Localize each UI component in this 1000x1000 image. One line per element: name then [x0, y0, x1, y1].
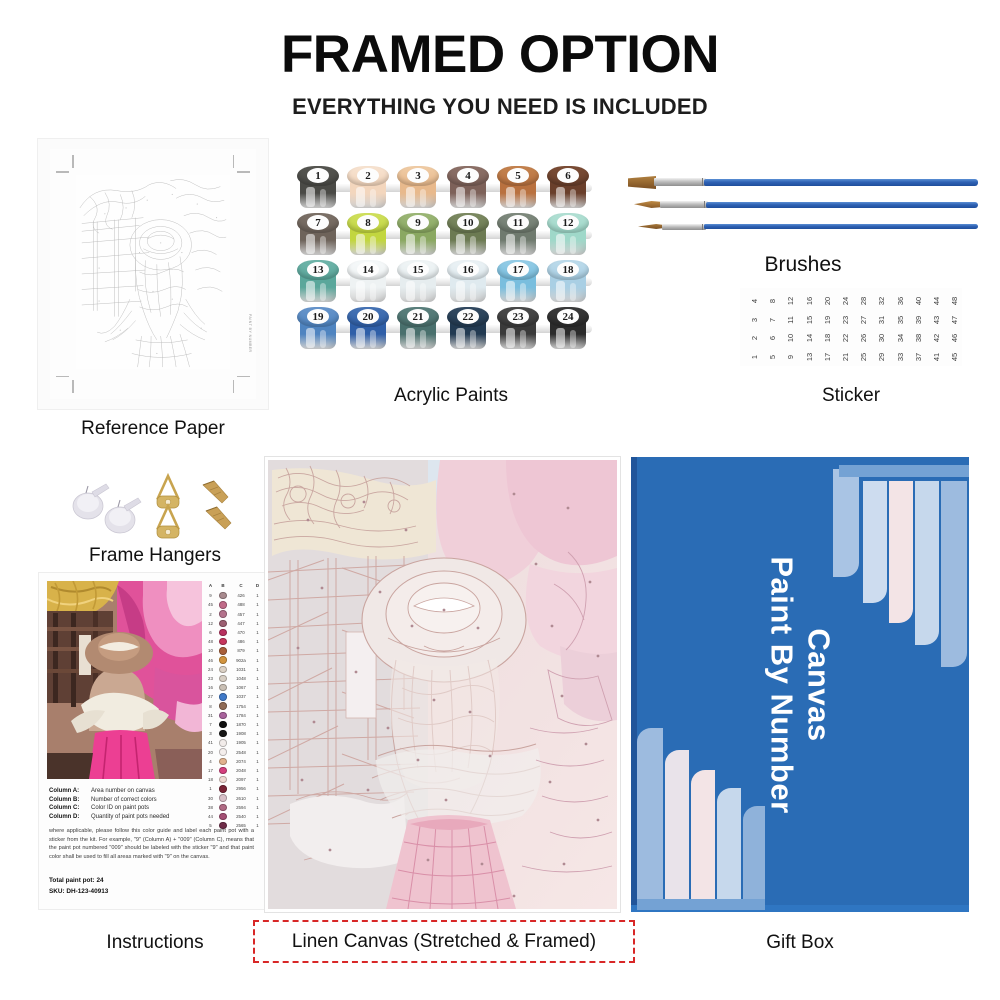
sticker-number-34[interactable]: 34: [891, 330, 909, 346]
gift-box-stripe: [941, 481, 967, 667]
color-row-id: 1908: [230, 731, 252, 736]
paint-pot-highlight: [306, 234, 315, 254]
color-row-id: 2540: [230, 814, 252, 819]
color-row-id: 457: [230, 612, 252, 617]
paint-pot-number: 6: [547, 167, 589, 184]
flat-brush-handle: [704, 179, 978, 186]
color-swatch: [219, 675, 227, 683]
color-row-qty: 1: [252, 602, 263, 607]
gift-box-stripe: [833, 469, 859, 577]
sticker-number-17[interactable]: 17: [818, 349, 836, 365]
flat-brush: [628, 176, 978, 188]
color-row-swatch-cell: [216, 767, 230, 775]
sticker-number-6[interactable]: 6: [763, 330, 781, 346]
sticker-number-41[interactable]: 41: [927, 349, 945, 365]
color-row-swatch-cell: [216, 629, 230, 637]
paint-pot-20[interactable]: 20: [346, 307, 390, 351]
paint-pot-number: 7: [297, 214, 339, 231]
paint-pot-highlight: [306, 328, 315, 348]
paint-pot-row: 789101112: [296, 213, 606, 257]
paint-pot-number: 15: [397, 261, 439, 278]
paint-pot-number: 16: [447, 261, 489, 278]
paint-pot-number: 9: [397, 214, 439, 231]
color-row-swatch-cell: [216, 794, 230, 802]
paint-pot-highlight: [470, 283, 476, 301]
registration-mark: [237, 171, 250, 173]
registration-mark: [237, 376, 250, 378]
sticker-number-2[interactable]: 2: [745, 330, 763, 346]
sticker-number-28[interactable]: 28: [854, 293, 872, 309]
instructions-legend-line: Column C:Color ID on paint pots: [49, 805, 209, 811]
paint-pot-highlight: [470, 236, 476, 254]
color-row-id: 470: [230, 630, 252, 635]
caption-frame-hangers: Frame Hangers: [20, 545, 290, 568]
color-swatch: [219, 702, 227, 710]
color-row-area: 8: [205, 704, 216, 709]
sticker-number-24[interactable]: 24: [836, 293, 854, 309]
sticker-number-22[interactable]: 22: [836, 330, 854, 346]
color-row-swatch-cell: [216, 712, 230, 720]
instructions-sku: SKU: DH-123-40913: [49, 888, 108, 895]
paint-pot-highlight: [420, 236, 426, 254]
paint-pot-highlight: [370, 189, 376, 207]
color-row-swatch-cell: [216, 592, 230, 600]
paint-pot-highlight: [356, 328, 365, 348]
color-swatch: [219, 638, 227, 646]
sticker-number-25[interactable]: 25: [854, 349, 872, 365]
gift-box: Canvas Paint By Number: [631, 457, 969, 912]
color-row-id: 1784: [230, 713, 252, 718]
paint-pot-5[interactable]: 5: [496, 166, 540, 210]
color-row-area: 7: [205, 722, 216, 727]
paint-pot-16[interactable]: 16: [446, 260, 490, 304]
color-row-area: 31: [205, 713, 216, 718]
sticker-number-48[interactable]: 48: [945, 293, 963, 309]
sticker-number-39[interactable]: 39: [909, 312, 927, 328]
instructions-color-row: 46902a1: [205, 655, 263, 664]
instructions-color-row: 718701: [205, 720, 263, 729]
sticker-number-27[interactable]: 27: [854, 312, 872, 328]
color-row-id: 447: [230, 621, 252, 626]
paint-pot-highlight: [470, 189, 476, 207]
color-row-swatch-cell: [216, 675, 230, 683]
page-title: FRAMED OPTION: [0, 28, 1000, 81]
color-row-id: 1031: [230, 667, 252, 672]
paint-pot-highlight: [520, 330, 526, 348]
paint-pot-highlight: [406, 281, 415, 301]
paint-pot-number: 23: [497, 308, 539, 325]
paint-pot-6[interactable]: 6: [546, 166, 590, 210]
color-row-qty: 1: [252, 630, 263, 635]
sticker-number-38[interactable]: 38: [909, 330, 927, 346]
sticker-number-12[interactable]: 12: [781, 293, 799, 309]
color-swatch: [219, 739, 227, 747]
sticker-number-18[interactable]: 18: [818, 330, 836, 346]
color-row-id: 1905: [230, 740, 252, 745]
color-swatch: [219, 776, 227, 784]
sticker-number-13[interactable]: 13: [800, 349, 818, 365]
color-swatch: [219, 804, 227, 812]
round-brush-ferrule: [660, 201, 708, 208]
color-row-id: 902a: [230, 658, 252, 663]
instructions-color-row: 3026101: [205, 793, 263, 802]
paint-pot-highlight: [456, 234, 465, 254]
sticker-number-45[interactable]: 45: [945, 349, 963, 365]
paint-pot-number: 10: [447, 214, 489, 231]
paint-pot-7[interactable]: 7: [296, 213, 340, 257]
instructions-color-row: 319081: [205, 729, 263, 738]
paint-pot-number: 11: [497, 214, 539, 231]
instructions-color-row: 108791: [205, 646, 263, 655]
sticker-number-20[interactable]: 20: [818, 293, 836, 309]
color-swatch: [219, 794, 227, 802]
paint-pot-15[interactable]: 15: [396, 260, 440, 304]
paint-pot-highlight: [570, 330, 576, 348]
color-row-qty: 1: [252, 713, 263, 718]
color-swatch: [219, 813, 227, 821]
paint-pot-number: 2: [347, 167, 389, 184]
paint-pot-highlight: [420, 283, 426, 301]
gift-box-label-line2: Paint By Number: [763, 556, 800, 813]
color-swatch: [219, 748, 227, 756]
flat-brush-ferrule: [654, 178, 706, 186]
paint-pot-3[interactable]: 3: [396, 166, 440, 210]
paint-pot-21[interactable]: 21: [396, 307, 440, 351]
paint-pot-22[interactable]: 22: [446, 307, 490, 351]
color-row-id: 488: [230, 602, 252, 607]
color-row-qty: 1: [252, 786, 263, 791]
color-row-area: 27: [205, 694, 216, 699]
gift-box-stripe-cap: [637, 899, 765, 910]
color-swatch: [219, 629, 227, 637]
sticker-column: 1211109: [782, 288, 798, 366]
page-subtitle: EVERYTHING YOU NEED IS INCLUDED: [0, 96, 1000, 118]
sticker-number-29[interactable]: 29: [872, 349, 890, 365]
legend-value: Quantity of paint pots needed: [91, 814, 169, 820]
color-swatch: [219, 647, 227, 655]
paint-pot-highlight: [556, 281, 565, 301]
color-swatch: [219, 785, 227, 793]
paint-pot-24[interactable]: 24: [546, 307, 590, 351]
sticker-number-10[interactable]: 10: [781, 330, 799, 346]
sticker-number-3[interactable]: 3: [745, 312, 763, 328]
legend-value: Area number on canvas: [91, 788, 155, 794]
instructions-legend-line: Column A:Area number on canvas: [49, 788, 209, 794]
caption-linen-canvas: Linen Canvas (Stretched & Framed): [292, 931, 596, 953]
sticker-number-9[interactable]: 9: [781, 349, 799, 365]
sticker-number-5[interactable]: 5: [763, 349, 781, 365]
paint-pot-highlight: [306, 281, 315, 301]
sticker-number-44[interactable]: 44: [927, 293, 945, 309]
reference-paper: PAINT BY NUMBER: [37, 138, 269, 410]
color-row-area: 17: [205, 768, 216, 773]
color-swatch: [219, 592, 227, 600]
paint-pot-number: 5: [497, 167, 539, 184]
color-row-qty: 1: [252, 796, 263, 801]
gift-box-stripe: [717, 788, 741, 900]
paint-pot-highlight: [370, 330, 376, 348]
paint-pot-14[interactable]: 14: [346, 260, 390, 304]
color-swatch: [219, 730, 227, 738]
instructions-color-row: 3825941: [205, 803, 263, 812]
sticker-column: 44434241: [928, 288, 944, 366]
instructions-color-row: 420741: [205, 757, 263, 766]
sticker-column: 32313029: [873, 288, 889, 366]
sticker-number-43[interactable]: 43: [927, 312, 945, 328]
caption-sticker: Sticker: [740, 385, 962, 408]
paint-pot-2[interactable]: 2: [346, 166, 390, 210]
color-row-swatch-cell: [216, 656, 230, 664]
instructions-color-row: 2710371: [205, 692, 263, 701]
instructions-legend-line: Column D:Quantity of paint pots needed: [49, 814, 209, 820]
sticker-number-32[interactable]: 32: [872, 293, 890, 309]
color-swatch: [219, 693, 227, 701]
paint-pot-13[interactable]: 13: [296, 260, 340, 304]
sticker-number-37[interactable]: 37: [909, 349, 927, 365]
th-b: B: [216, 583, 230, 588]
color-row-area: 18: [205, 777, 216, 782]
color-row-swatch-cell: [216, 620, 230, 628]
registration-mark: [72, 380, 74, 393]
paint-pot-number: 13: [297, 261, 339, 278]
paint-pot-highlight: [370, 283, 376, 301]
paint-pot-4[interactable]: 4: [446, 166, 490, 210]
paint-pot-highlight: [470, 330, 476, 348]
paint-pot-number: 18: [547, 261, 589, 278]
paint-pot-10[interactable]: 10: [446, 213, 490, 257]
sticker-number-11[interactable]: 11: [781, 312, 799, 328]
color-swatch: [219, 610, 227, 618]
paint-pot-highlight: [456, 187, 465, 207]
color-row-id: 2594: [230, 805, 252, 810]
color-row-swatch-cell: [216, 702, 230, 710]
legend-value: Color ID on paint pots: [91, 805, 149, 811]
sticker-column: 28272625: [855, 288, 871, 366]
round-brush-handle: [706, 202, 978, 208]
sticker-column: 4321: [746, 288, 762, 366]
color-swatch: [219, 620, 227, 628]
paint-pot-number: 12: [547, 214, 589, 231]
sticker-number-40[interactable]: 40: [909, 293, 927, 309]
sticker-number-46[interactable]: 46: [945, 330, 963, 346]
color-row-swatch-cell: [216, 785, 230, 793]
paint-pot-19[interactable]: 19: [296, 307, 340, 351]
paint-pot-highlight: [356, 187, 365, 207]
paint-pot-17[interactable]: 17: [496, 260, 540, 304]
instructions-color-row: 129561: [205, 784, 263, 793]
color-row-swatch-cell: [216, 693, 230, 701]
instructions-color-row: 2025481: [205, 747, 263, 756]
paint-pot-highlight: [406, 187, 415, 207]
color-row-id: 2097: [230, 777, 252, 782]
instructions-artwork-preview: [47, 581, 202, 779]
paint-pot-highlight: [320, 236, 326, 254]
color-row-area: 12: [205, 621, 216, 626]
color-row-swatch-cell: [216, 647, 230, 655]
paint-pot-highlight: [506, 234, 515, 254]
instructions-table-header: A B C D: [205, 581, 263, 590]
sticker-number-36[interactable]: 36: [891, 293, 909, 309]
color-row-id: 1048: [230, 676, 252, 681]
instructions-color-row: 2310481: [205, 674, 263, 683]
sticker-number-42[interactable]: 42: [927, 330, 945, 346]
sticker-number-47[interactable]: 47: [945, 312, 963, 328]
instructions-total-paint-pots: Total paint pot: 24: [49, 877, 104, 884]
paint-pot-8[interactable]: 8: [346, 213, 390, 257]
sticker-column: 20191817: [819, 288, 835, 366]
color-row-qty: 1: [252, 740, 263, 745]
instructions-color-table: A B C D 94261454881245711244716470148486…: [205, 581, 263, 826]
sticker-number-1[interactable]: 1: [745, 349, 763, 365]
color-row-id: 2048: [230, 768, 252, 773]
color-row-qty: 1: [252, 768, 263, 773]
flat-brush-tip: [628, 176, 656, 189]
detail-brush-handle: [704, 224, 978, 229]
sticker-sheet: 4321876512111091615141320191817242322212…: [740, 288, 962, 366]
instructions-color-row: 64701: [205, 628, 263, 637]
sticker-number-7[interactable]: 7: [763, 312, 781, 328]
gift-box-label-line1: Canvas: [800, 556, 837, 813]
color-row-area: 41: [205, 740, 216, 745]
caption-reference-paper: Reference Paper: [0, 418, 306, 441]
color-row-swatch-cell: [216, 748, 230, 756]
paint-pot-highlight: [356, 281, 365, 301]
sticker-number-8[interactable]: 8: [763, 293, 781, 309]
color-row-qty: 1: [252, 648, 263, 653]
color-row-id: 426: [230, 593, 252, 598]
color-row-swatch-cell: [216, 684, 230, 692]
color-row-id: 1754: [230, 704, 252, 709]
caption-brushes: Brushes: [628, 252, 978, 277]
color-row-area: 3: [205, 731, 216, 736]
sticker-number-14[interactable]: 14: [800, 330, 818, 346]
color-row-area: 2: [205, 612, 216, 617]
paint-pot-row: 192021222324: [296, 307, 606, 351]
instructions-legend-line: Column B:Number of correct colors: [49, 797, 209, 803]
paint-pot-highlight: [456, 328, 465, 348]
sticker-column: 8765: [764, 288, 780, 366]
paint-pot-highlight: [570, 236, 576, 254]
paint-pot-highlight: [320, 283, 326, 301]
sticker-number-26[interactable]: 26: [854, 330, 872, 346]
color-row-qty: 1: [252, 759, 263, 764]
sticker-column: 24232221: [837, 288, 853, 366]
paint-pot-9[interactable]: 9: [396, 213, 440, 257]
sticker-number-23[interactable]: 23: [836, 312, 854, 328]
color-row-area: 4: [205, 759, 216, 764]
paint-pot-number: 24: [547, 308, 589, 325]
round-brush: [634, 198, 978, 210]
paint-pot-23[interactable]: 23: [496, 307, 540, 351]
instructions-paragraph: where applicable, please follow this col…: [49, 827, 254, 862]
caption-acrylic-paints: Acrylic Paints: [296, 385, 606, 408]
caption-linen-canvas-box: Linen Canvas (Stretched & Framed): [253, 920, 635, 963]
instructions-color-row: 817541: [205, 701, 263, 710]
paint-pot-12[interactable]: 12: [546, 213, 590, 257]
instructions-sheet: A B C D 94261454881245711244716470148486…: [38, 572, 270, 910]
reference-paper-sheet: PAINT BY NUMBER: [50, 149, 256, 399]
sticker-number-4[interactable]: 4: [745, 293, 763, 309]
color-swatch: [219, 684, 227, 692]
paint-pot-number: 8: [347, 214, 389, 231]
sticker-number-33[interactable]: 33: [891, 349, 909, 365]
color-row-area: 46: [205, 658, 216, 663]
color-row-swatch-cell: [216, 721, 230, 729]
registration-mark: [233, 380, 235, 393]
color-row-qty: 1: [252, 658, 263, 663]
color-row-swatch-cell: [216, 758, 230, 766]
gift-box-stripe: [665, 750, 689, 900]
instructions-color-row: 4119051: [205, 738, 263, 747]
gift-box-stripe: [863, 481, 887, 603]
gift-box-stripe-cap: [839, 465, 969, 477]
paint-pot-row: 123456: [296, 166, 606, 210]
instructions-color-row: 454881: [205, 600, 263, 609]
paint-pot-highlight: [506, 281, 515, 301]
acrylic-paints-group: 123456789101112131415161718192021222324: [296, 166, 606, 356]
brushes-group: [628, 170, 978, 250]
color-row-id: 2548: [230, 750, 252, 755]
instructions-color-row: 4425401: [205, 812, 263, 821]
color-row-swatch-cell: [216, 730, 230, 738]
color-row-swatch-cell: [216, 739, 230, 747]
detail-brush-tip: [638, 224, 664, 229]
color-row-area: 24: [205, 667, 216, 672]
sticker-column: 48474645: [946, 288, 962, 366]
sticker-number-21[interactable]: 21: [836, 349, 854, 365]
sticker-number-35[interactable]: 35: [891, 312, 909, 328]
screw: [206, 507, 231, 529]
sticker-number-19[interactable]: 19: [818, 312, 836, 328]
th-d: D: [252, 583, 263, 588]
color-row-id: 1037: [230, 694, 252, 699]
paint-pot-highlight: [420, 189, 426, 207]
paint-pot-18[interactable]: 18: [546, 260, 590, 304]
sticker-number-16[interactable]: 16: [800, 293, 818, 309]
color-row-qty: 1: [252, 639, 263, 644]
color-swatch: [219, 712, 227, 720]
paint-pot-11[interactable]: 11: [496, 213, 540, 257]
color-row-id: 1067: [230, 685, 252, 690]
color-row-area: 45: [205, 602, 216, 607]
color-row-qty: 1: [252, 593, 263, 598]
paint-pot-1[interactable]: 1: [296, 166, 340, 210]
paint-pot-highlight: [520, 283, 526, 301]
color-row-area: 10: [205, 648, 216, 653]
detail-brush: [638, 220, 978, 232]
instructions-color-row: 24571: [205, 609, 263, 618]
paint-pot-highlight: [370, 236, 376, 254]
legend-key: Column A:: [49, 788, 91, 794]
sticker-number-30[interactable]: 30: [872, 330, 890, 346]
paint-pot-row: 131415161718: [296, 260, 606, 304]
instructions-color-row: 3117841: [205, 711, 263, 720]
sticker-number-15[interactable]: 15: [800, 312, 818, 328]
paint-pot-highlight: [570, 189, 576, 207]
linen-canvas-artwork: [268, 460, 617, 909]
color-row-swatch-cell: [216, 666, 230, 674]
instructions-color-row: 1820971: [205, 775, 263, 784]
detail-brush-ferrule: [662, 224, 706, 230]
gift-box-stripe: [637, 728, 663, 900]
color-row-qty: 1: [252, 676, 263, 681]
color-row-swatch-cell: [216, 601, 230, 609]
color-row-area: 9: [205, 593, 216, 598]
color-row-qty: 1: [252, 621, 263, 626]
d-ring-hanger: [157, 506, 179, 538]
sticker-number-31[interactable]: 31: [872, 312, 890, 328]
paint-pot-highlight: [356, 234, 365, 254]
